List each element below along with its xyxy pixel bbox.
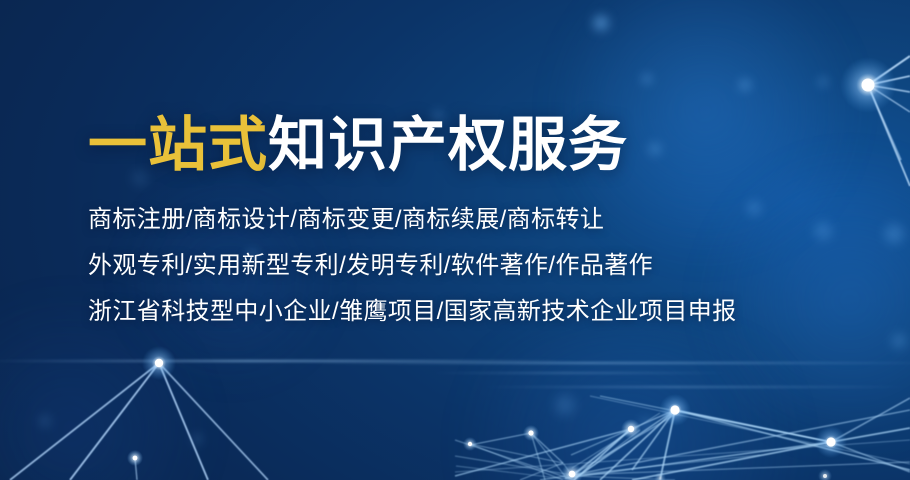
page-title-highlight: 一站式 xyxy=(88,112,268,178)
banner-copy: 一站式知识产权服务 商标注册/商标设计/商标变更/商标续展/商标转让 外观专利/… xyxy=(88,112,808,335)
network-node xyxy=(823,474,827,478)
network-node xyxy=(142,346,176,380)
background-glow xyxy=(420,330,840,480)
network-node xyxy=(127,450,143,466)
network-node xyxy=(840,57,896,113)
page-title-rest: 知识产权服务 xyxy=(268,112,628,178)
network-node xyxy=(133,456,138,461)
network-node xyxy=(621,419,641,439)
service-line: 浙江省科技型中小企业/雏鹰项目/国家高新技术企业项目申报 xyxy=(88,289,808,335)
network-node xyxy=(569,471,576,478)
network-node xyxy=(463,437,477,451)
light-streak xyxy=(430,372,730,374)
bokeh-dot xyxy=(36,412,54,430)
network-node xyxy=(528,430,533,435)
network-node xyxy=(659,394,691,426)
network-node xyxy=(862,79,875,92)
bokeh-dot xyxy=(637,415,655,433)
bokeh-dot xyxy=(810,218,836,244)
network-node xyxy=(654,472,666,480)
bokeh-dot xyxy=(190,432,204,446)
bokeh-dot xyxy=(640,72,654,86)
light-streak xyxy=(0,360,580,362)
hero-banner: 一站式知识产权服务 商标注册/商标设计/商标变更/商标续展/商标转让 外观专利/… xyxy=(0,0,910,480)
bokeh-dot xyxy=(816,75,830,89)
network-node xyxy=(815,426,847,458)
service-line: 外观专利/实用新型专利/发明专利/软件著作/作品著作 xyxy=(88,243,808,289)
network-node xyxy=(628,426,634,432)
network-node xyxy=(523,425,539,441)
network-node xyxy=(155,359,163,367)
bokeh-dot xyxy=(880,220,908,248)
page-title: 一站式知识产权服务 xyxy=(88,112,808,179)
bokeh-dot xyxy=(550,390,580,420)
network-node xyxy=(561,463,583,480)
light-streak xyxy=(300,362,910,364)
bokeh-dot xyxy=(737,77,753,93)
network-node xyxy=(468,442,472,446)
network-node xyxy=(670,405,679,414)
light-streak xyxy=(480,386,910,388)
network-node xyxy=(818,469,832,480)
service-line: 商标注册/商标设计/商标变更/商标续展/商标转让 xyxy=(88,197,808,243)
bokeh-dot xyxy=(590,12,612,34)
bokeh-dot xyxy=(888,330,910,352)
service-list: 商标注册/商标设计/商标变更/商标续展/商标转让 外观专利/实用新型专利/发明专… xyxy=(88,197,808,335)
network-node xyxy=(826,437,835,446)
